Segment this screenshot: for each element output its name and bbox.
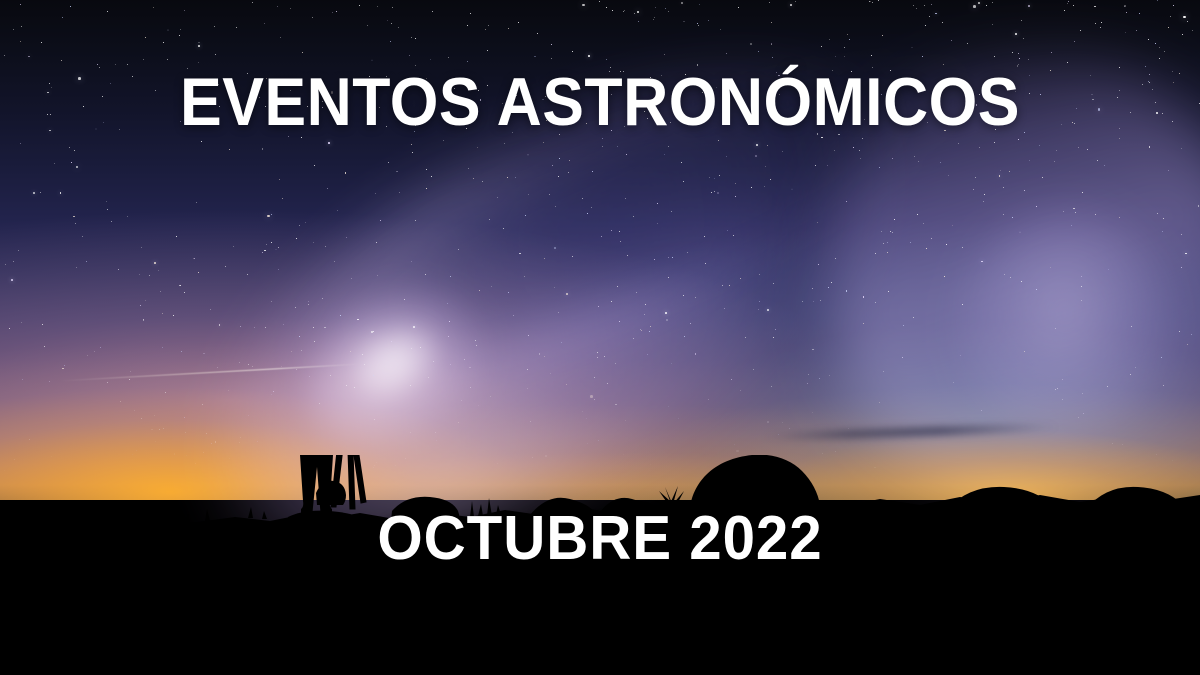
astronomy-events-poster: EVENTOS ASTRONÓMICOS OCTUBRE 2022: [0, 0, 1200, 675]
page-subtitle: OCTUBRE 2022: [36, 508, 1164, 570]
page-title: EVENTOS ASTRONÓMICOS: [48, 68, 1152, 136]
